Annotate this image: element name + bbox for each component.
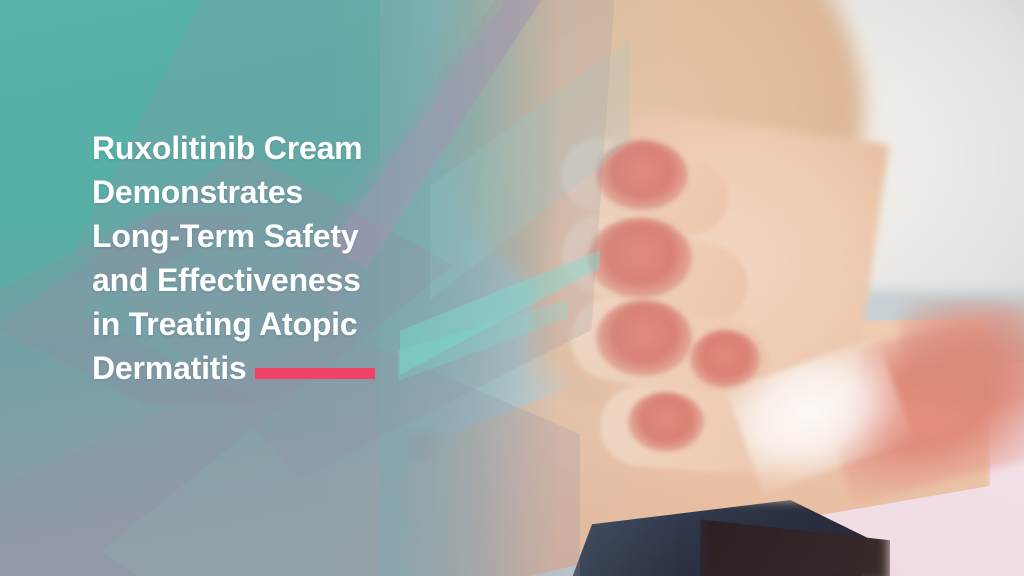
headline-line-2: Demonstrates [92, 170, 422, 214]
article-hero-banner: Ruxolitinib Cream Demonstrates Long-Term… [0, 0, 1024, 576]
photo-forearm-rash-2 [900, 300, 1024, 410]
photo-eczema-patch-4 [690, 330, 760, 388]
headline-line-4: and Effectiveness [92, 258, 422, 302]
headline-line-1: Ruxolitinib Cream [92, 126, 422, 170]
headline-line-6: Dermatitis [92, 350, 247, 386]
headline-line-6-row: Dermatitis [92, 346, 422, 390]
headline-line-3: Long-Term Safety [92, 214, 422, 258]
page-title: Ruxolitinib Cream Demonstrates Long-Term… [92, 126, 422, 390]
accent-bar [255, 368, 375, 379]
headline-line-5: in Treating Atopic [92, 302, 422, 346]
